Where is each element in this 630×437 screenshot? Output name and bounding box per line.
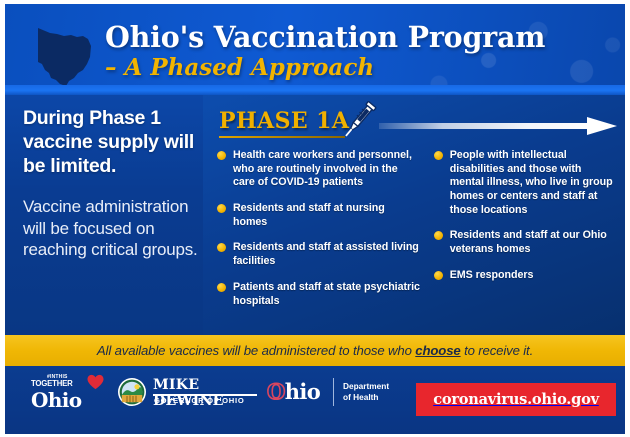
choice-text-after: to receive it. <box>461 343 534 358</box>
page-title: Ohio's Vaccination Program <box>105 22 611 53</box>
phase-label-underline <box>219 136 345 138</box>
ohio-state-seal-icon <box>117 377 147 407</box>
odh-department-label: Department of Health <box>343 381 389 403</box>
governor-logo: MIKE DEWINE GOVERNOR OF OHIO <box>117 376 257 409</box>
left-summary-column: During Phase 1 vaccine supply will be li… <box>23 107 199 260</box>
choice-banner: All available vaccines will be administe… <box>5 335 625 366</box>
list-item: Patients and staff at state psychiatric … <box>215 281 422 308</box>
coronavirus-url-text: coronavirus.ohio.gov <box>433 391 599 408</box>
list-item: People with intellectual disabilities an… <box>432 149 617 217</box>
supply-limited-statement: During Phase 1 vaccine supply will be li… <box>23 107 199 178</box>
critical-groups-statement: Vaccine administration will be focused o… <box>23 196 199 260</box>
infographic-poster: Ohio's Vaccination Program – A Phased Ap… <box>0 0 630 437</box>
list-item: Residents and staff at our Ohio veterans… <box>432 229 617 256</box>
governor-subtitle: GOVERNOR OF OHIO <box>154 396 244 405</box>
odh-ohio-wordmark: Ohio <box>267 379 320 404</box>
arrow-head <box>587 117 617 135</box>
odh-divider <box>333 378 334 406</box>
choice-banner-text: All available vaccines will be administe… <box>97 343 533 358</box>
odh-hio-text: hio <box>285 379 320 404</box>
phase-bullet-columns: Health care workers and personnel, who a… <box>215 149 617 329</box>
bullet-column-left: Health care workers and personnel, who a… <box>215 149 422 329</box>
arrow-shaft <box>379 123 591 129</box>
list-item: Residents and staff at nursing homes <box>215 202 422 229</box>
phase-label: PHASE 1A <box>219 108 349 134</box>
choice-text-before: All available vaccines will be administe… <box>97 343 415 358</box>
in-this-together-ohio-logo: #INTHIS TOGETHER Ohio <box>31 374 109 410</box>
right-arrow-icon <box>379 117 623 135</box>
ohio-department-of-health-logo: Ohio Department of Health <box>267 377 409 409</box>
odh-o-ring: O <box>267 379 285 404</box>
itt-ohio-wordmark: Ohio <box>31 388 82 412</box>
poster-body: During Phase 1 vaccine supply will be li… <box>5 95 625 335</box>
poster-header: Ohio's Vaccination Program – A Phased Ap… <box>5 4 625 95</box>
page-subtitle: – A Phased Approach <box>105 54 611 83</box>
itt-together-label: TOGETHER <box>31 379 73 388</box>
itt-top-row: #INTHIS TOGETHER <box>31 374 109 389</box>
odh-department-line2: of Health <box>343 392 389 403</box>
poster-canvas: Ohio's Vaccination Program – A Phased Ap… <box>5 4 625 434</box>
list-item: EMS responders <box>432 269 617 283</box>
phase-header: PHASE 1A <box>219 108 615 142</box>
header-title-block: Ohio's Vaccination Program – A Phased Ap… <box>105 22 611 83</box>
ohio-state-map-icon <box>33 24 95 88</box>
choice-emphasis: choose <box>415 343 460 358</box>
phase-1a-panel: PHASE 1A <box>203 95 625 335</box>
bullet-column-right: People with intellectual disabilities an… <box>432 149 617 329</box>
odh-department-line1: Department <box>343 381 389 392</box>
list-item: Health care workers and personnel, who a… <box>215 149 422 190</box>
syringe-icon <box>337 97 379 143</box>
heart-icon <box>86 374 105 390</box>
coronavirus-website-link[interactable]: coronavirus.ohio.gov <box>416 383 616 416</box>
list-item: Residents and staff at assisted living f… <box>215 241 422 268</box>
